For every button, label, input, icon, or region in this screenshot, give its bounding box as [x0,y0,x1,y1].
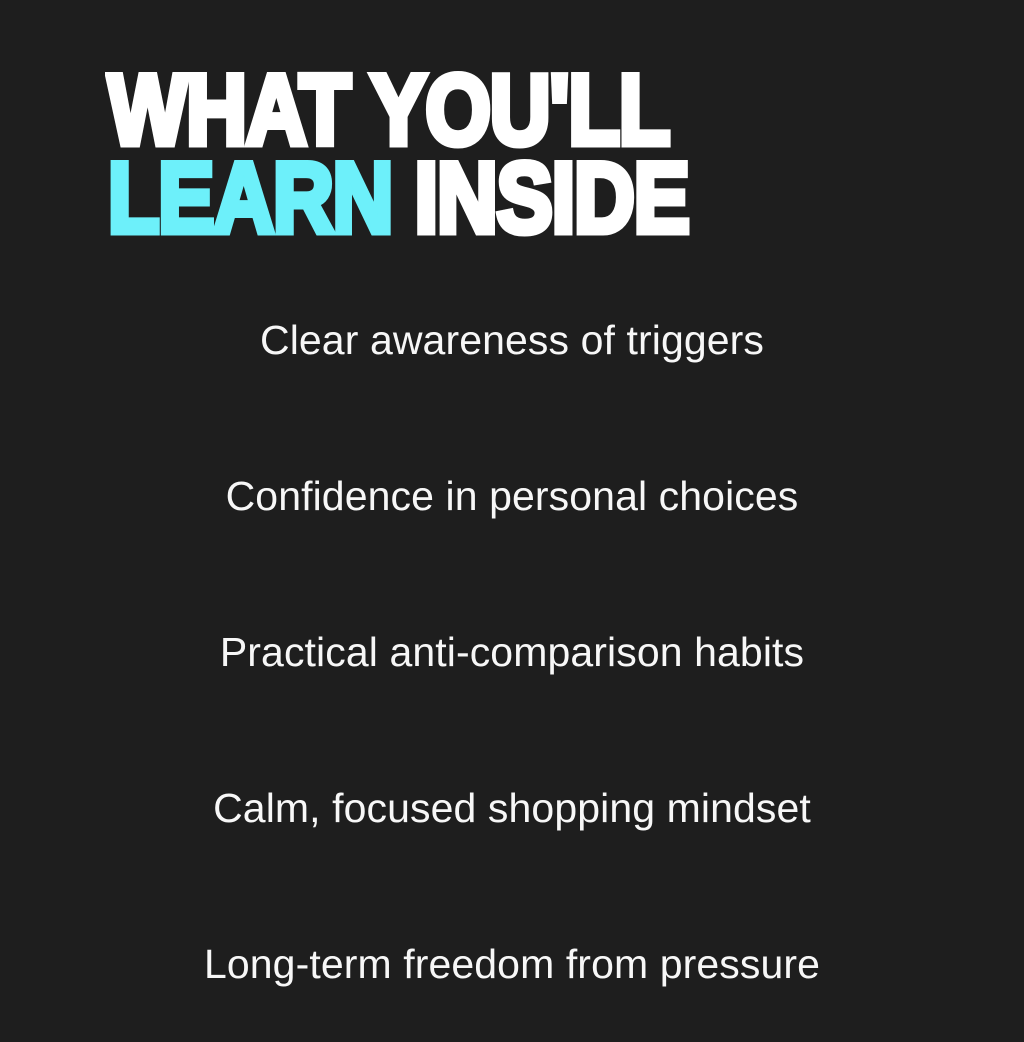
benefit-label: Clear awareness of triggers [260,316,764,364]
benefits-list: Clear awareness of triggers Confidence i… [0,262,1024,1042]
list-item: Confidence in personal choices [0,418,1024,574]
benefit-label: Confidence in personal choices [226,472,799,520]
headline-plain-word: INSIDE [392,142,688,253]
headline-line-1: WHAT YOU'LL [108,66,928,153]
slide-canvas: WHAT YOU'LL LEARN INSIDE Clear awareness… [0,0,1024,1024]
benefit-label: Calm, focused shopping mindset [213,784,811,832]
list-item: Calm, focused shopping mindset [0,730,1024,886]
list-item: Clear awareness of triggers [0,262,1024,418]
list-item: Long-term freedom from pressure [0,886,1024,1042]
headline-line-2: LEARN INSIDE [108,154,928,241]
list-item: Practical anti-comparison habits [0,574,1024,730]
headline-block: WHAT YOU'LL LEARN INSIDE [108,66,928,228]
benefit-label: Long-term freedom from pressure [204,940,820,988]
benefit-label: Practical anti-comparison habits [220,628,804,676]
headline-accent-word: LEARN [108,142,392,253]
